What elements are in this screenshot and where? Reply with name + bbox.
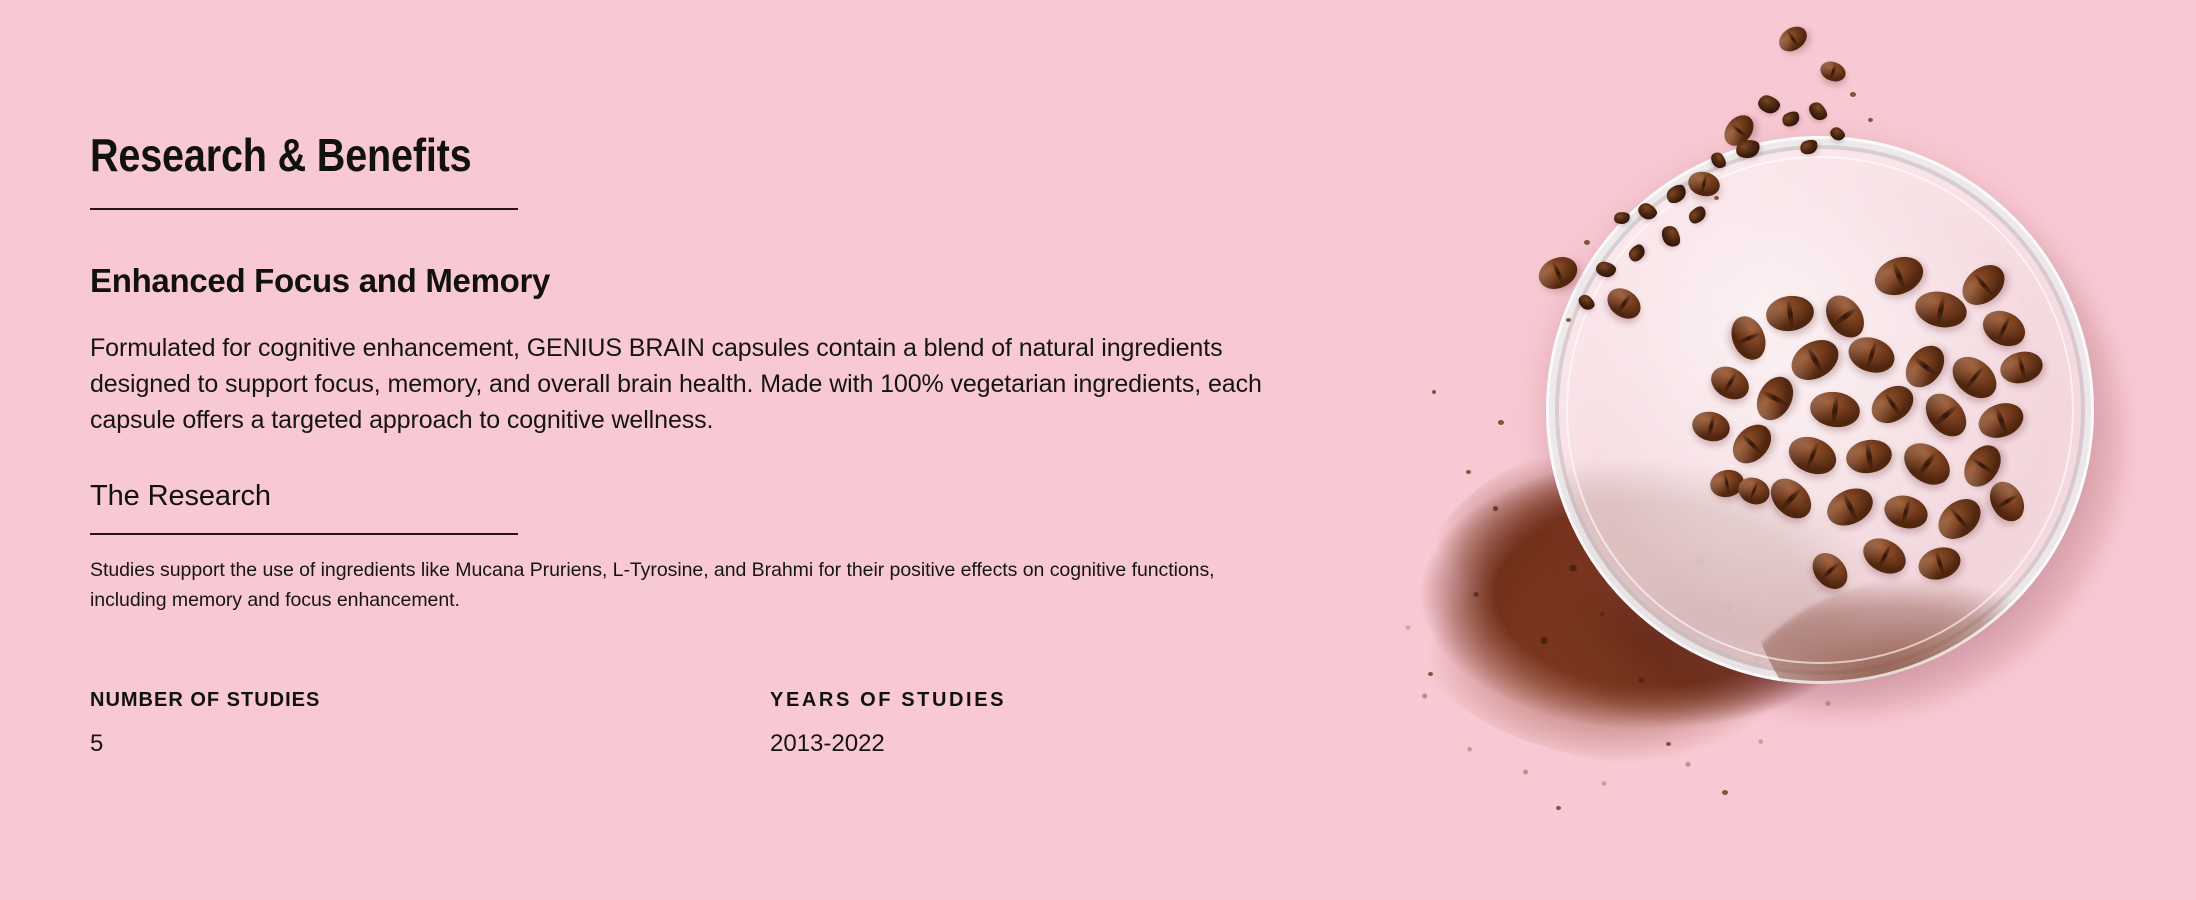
stats-row: NUMBER OF STUDIES 5 YEARS OF STUDIES 201… [90,690,1290,756]
stat-label: NUMBER OF STUDIES [90,690,770,710]
research-paragraph: Studies support the use of ingredients l… [90,555,1270,615]
stat-number-of-studies: NUMBER OF STUDIES 5 [90,690,770,756]
stat-years-of-studies: YEARS OF STUDIES 2013-2022 [770,690,1006,756]
petri-dish [1546,136,2094,684]
product-image-panel [1370,0,2196,900]
stat-label: YEARS OF STUDIES [770,690,1006,710]
stat-value: 5 [90,732,770,756]
subheading: Enhanced Focus and Memory [90,262,550,300]
research-divider [90,533,518,535]
page-title: Research & Benefits [90,132,472,178]
title-divider [90,208,518,210]
research-heading: The Research [90,482,271,511]
coffee-beans-petri-dish-photo [1370,0,2196,900]
stat-value: 2013-2022 [770,732,1006,756]
body-paragraph: Formulated for cognitive enhancement, GE… [90,330,1325,438]
research-benefits-panel: Research & Benefits Enhanced Focus and M… [0,0,2196,900]
content-column: Research & Benefits Enhanced Focus and M… [90,0,1340,900]
